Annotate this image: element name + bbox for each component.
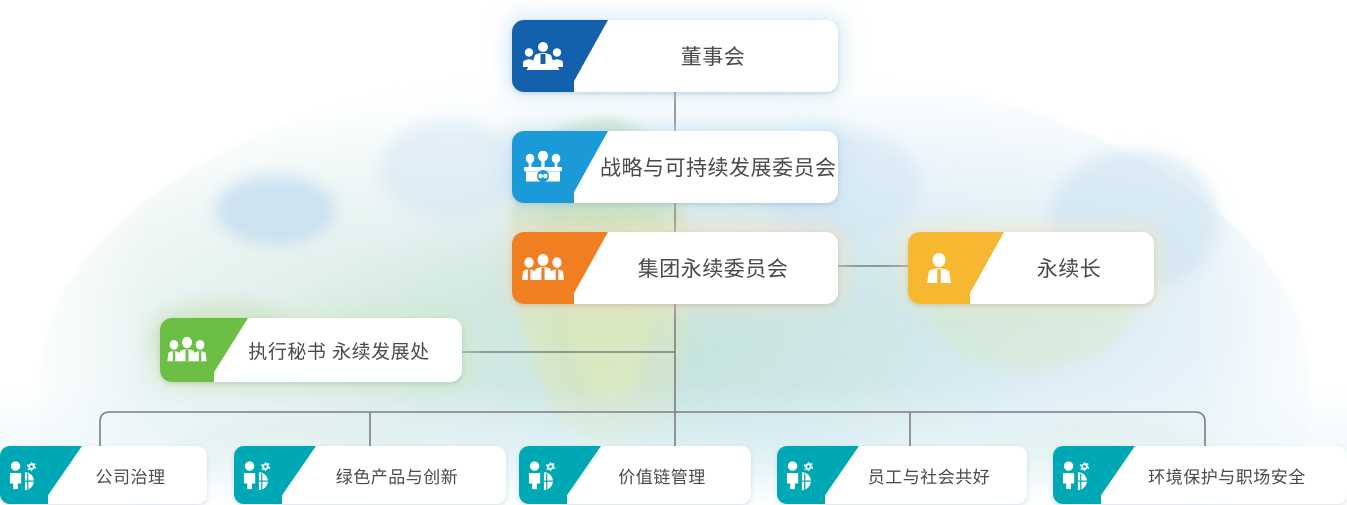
function-4-label: 环境保护与职场安全 — [1101, 446, 1347, 504]
officer-icon-pane — [908, 232, 970, 304]
person-gear-globe-icon — [241, 460, 275, 490]
single-person-icon — [924, 252, 954, 284]
node-function-2[interactable]: 价值链管理 — [519, 446, 751, 504]
team-people-icon — [167, 336, 207, 364]
background-speck — [215, 175, 335, 245]
person-gear-globe-icon — [1060, 460, 1094, 490]
group-people-icon — [522, 253, 564, 283]
node-function-4[interactable]: 环境保护与职场安全 — [1053, 446, 1347, 504]
node-group-committee[interactable]: 集团永续委员会 — [512, 232, 838, 304]
board-meeting-icon — [523, 41, 563, 71]
function-0-icon-pane — [0, 446, 48, 504]
committee-table-icon — [522, 151, 564, 183]
org-chart-canvas: 董事会 战略与可持续发展委员会 — [0, 0, 1347, 505]
strategy-icon-pane — [512, 131, 574, 203]
node-function-3[interactable]: 员工与社会共好 — [777, 446, 1027, 504]
board-icon-pane — [512, 20, 574, 92]
person-gear-globe-icon — [7, 460, 41, 490]
node-secretary[interactable]: 执行秘书 永续发展处 — [160, 318, 462, 382]
person-gear-globe-icon — [526, 460, 560, 490]
function-3-icon-pane — [777, 446, 825, 504]
secretary-label: 执行秘书 永续发展处 — [214, 318, 462, 382]
node-function-0[interactable]: 公司治理 — [0, 446, 207, 504]
background-right-fade — [1197, 0, 1347, 505]
group-icon-pane — [512, 232, 574, 304]
node-function-1[interactable]: 绿色产品与创新 — [234, 446, 506, 504]
group-label: 集团永续委员会 — [574, 232, 838, 304]
function-2-icon-pane — [519, 446, 567, 504]
background-left-fade — [0, 0, 150, 505]
function-4-icon-pane — [1053, 446, 1101, 504]
node-chief-officer[interactable]: 永续长 — [908, 232, 1154, 304]
secretary-icon-pane — [160, 318, 214, 382]
person-gear-globe-icon — [784, 460, 818, 490]
connector-distribution-bar — [100, 412, 1205, 447]
strategy-label: 战略与可持续发展委员会 — [574, 131, 838, 203]
function-1-icon-pane — [234, 446, 282, 504]
function-1-label: 绿色产品与创新 — [282, 446, 506, 504]
board-label: 董事会 — [574, 20, 838, 92]
node-strategy-committee[interactable]: 战略与可持续发展委员会 — [512, 131, 838, 203]
background-speck — [380, 120, 520, 220]
function-3-label: 员工与社会共好 — [825, 446, 1027, 504]
node-board[interactable]: 董事会 — [512, 20, 838, 92]
